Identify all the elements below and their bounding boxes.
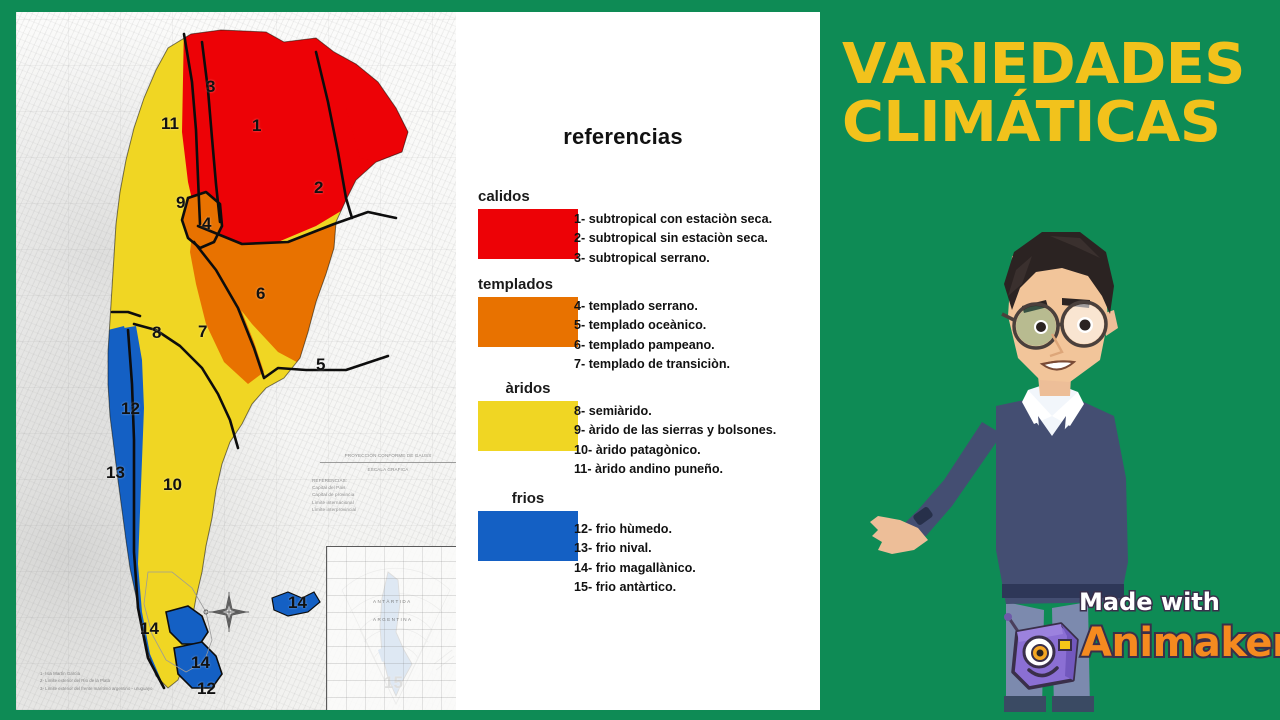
inset-grid <box>327 547 456 710</box>
legend-category-calidos: calidos <box>478 188 578 259</box>
legend-item: 7- templado de transiciòn. <box>574 355 730 374</box>
animaker-watermark: Made with Animaker <box>995 588 1265 698</box>
map-ref-capital-provincia: Capital de provincia <box>312 491 456 498</box>
map-zone-number: 14 <box>288 594 307 611</box>
legend-item: 1- subtropical con estaciòn seca. <box>574 210 772 229</box>
legend-panel: referencias calidos 1- subtropical con e… <box>456 12 820 710</box>
legend-item: 2- subtropical sin estaciòn seca. <box>574 229 772 248</box>
watermark-brand: Animaker <box>1081 620 1280 666</box>
legend-category-templados: templados <box>478 276 578 347</box>
legend-item: 8- semiàrido. <box>574 402 776 421</box>
map-zone-number: 6 <box>256 285 265 302</box>
map-zone-number: 5 <box>316 356 325 373</box>
legend-items-frios: 12- frio hùmedo. 13- frio nival. 14- fri… <box>574 520 696 597</box>
map-zone-number: 1 <box>252 117 261 134</box>
slide-title-line1: VARIEDADES <box>842 32 1245 97</box>
map-zone-number: 12 <box>121 400 140 417</box>
legend-item: 14- frio magallànico. <box>574 559 696 578</box>
legend-category-label: frios <box>478 490 578 507</box>
legend-heading: referencias <box>508 124 738 150</box>
map-scale-block: PROYECCIÒN CONFORME DE GAUSS ESCALA GRAF… <box>312 452 456 514</box>
map-footnotes: 1- Isla Martìn Garcìa 2- Lìmite exterior… <box>40 670 200 692</box>
right-panel: VARIEDADES CLIMÁTICAS <box>820 0 1280 720</box>
animaker-robot-icon <box>995 610 1085 692</box>
slide-title: VARIEDADES CLIMÁTICAS <box>842 36 1280 152</box>
map-ref-capital-pais: Capital del Pais <box>312 484 456 491</box>
compass-rose <box>204 592 249 632</box>
map-zone-number: 9 <box>176 194 185 211</box>
map-refs-title: REFERENCIAS: <box>312 477 456 484</box>
legend-swatch-aridos <box>478 401 578 451</box>
map-zone-number: 4 <box>202 215 211 232</box>
legend-category-aridos: àridos <box>478 380 578 451</box>
legend-item: 4- templado serrano. <box>574 297 730 316</box>
legend-swatch-frios <box>478 511 578 561</box>
legend-items-calidos: 1- subtropical con estaciòn seca. 2- sub… <box>574 210 772 268</box>
antarctica-inset: ANTÀRTIDA ARGENTINA <box>326 546 456 710</box>
legend-item: 15- frio antàrtico. <box>574 578 696 597</box>
map-zone-number: 10 <box>163 476 182 493</box>
legend-item: 12- frio hùmedo. <box>574 520 696 539</box>
map-footnote-2: 2- Lìmite exterior del Rìo de la Plata <box>40 677 200 684</box>
map-ref-limite-interprovincial: Lìmite interprovincial <box>312 506 456 513</box>
legend-item: 11- àrido andino puneño. <box>574 460 776 479</box>
legend-category-label: templados <box>478 276 578 293</box>
map-ref-limite-internacional: Lìmite internacional <box>312 499 456 506</box>
map-zone-number: 2 <box>314 179 323 196</box>
legend-item: 6- templado pampeano. <box>574 336 730 355</box>
legend-category-label: àridos <box>478 380 578 397</box>
map-zone-number: 3 <box>206 78 215 95</box>
slide-canvas: 3 11 1 2 9 4 6 7 8 5 12 13 10 14 14 14 1… <box>0 0 1280 720</box>
map-zone-number: 11 <box>161 115 179 132</box>
legend-item: 5- templado oceànico. <box>574 316 730 335</box>
legend-category-frios: frios <box>478 490 578 561</box>
legend-item: 13- frio nival. <box>574 539 696 558</box>
legend-category-label: calidos <box>478 188 578 205</box>
map-zone-number: 8 <box>152 324 161 341</box>
content-sheet: 3 11 1 2 9 4 6 7 8 5 12 13 10 14 14 14 1… <box>16 12 820 710</box>
map-zone-number: 7 <box>198 323 207 340</box>
map-zone-number: 13 <box>106 464 125 481</box>
legend-item: 10- àrido patagònico. <box>574 441 776 460</box>
map-projection-label: PROYECCIÒN CONFORME DE GAUSS <box>312 452 456 459</box>
map-scale-label: ESCALA GRAFICA <box>312 466 456 473</box>
legend-items-aridos: 8- semiàrido. 9- àrido de las sierras y … <box>574 402 776 479</box>
watermark-made-with: Made with <box>1079 588 1220 616</box>
argentina-climate-map: 3 11 1 2 9 4 6 7 8 5 12 13 10 14 14 14 1… <box>16 12 456 710</box>
map-zone-number: 14 <box>140 620 159 637</box>
legend-swatch-calidos <box>478 209 578 259</box>
legend-swatch-templados <box>478 297 578 347</box>
inset-label-antartida: ANTÀRTIDA <box>373 599 412 604</box>
scale-rule <box>320 462 456 463</box>
legend-items-templados: 4- templado serrano. 5- templado oceànic… <box>574 297 730 374</box>
slide-title-line2: CLIMÁTICAS <box>842 94 1280 152</box>
map-footnote-1: 1- Isla Martìn Garcìa <box>40 670 200 677</box>
inset-label-argentina: ARGENTINA <box>373 617 412 622</box>
legend-item: 3- subtropical serrano. <box>574 249 772 268</box>
map-footnote-3: 3- Lìmite exterior del frente marìtimo a… <box>40 685 200 692</box>
map-zone-number: 14 <box>191 654 210 671</box>
legend-item: 9- àrido de las sierras y bolsones. <box>574 421 776 440</box>
